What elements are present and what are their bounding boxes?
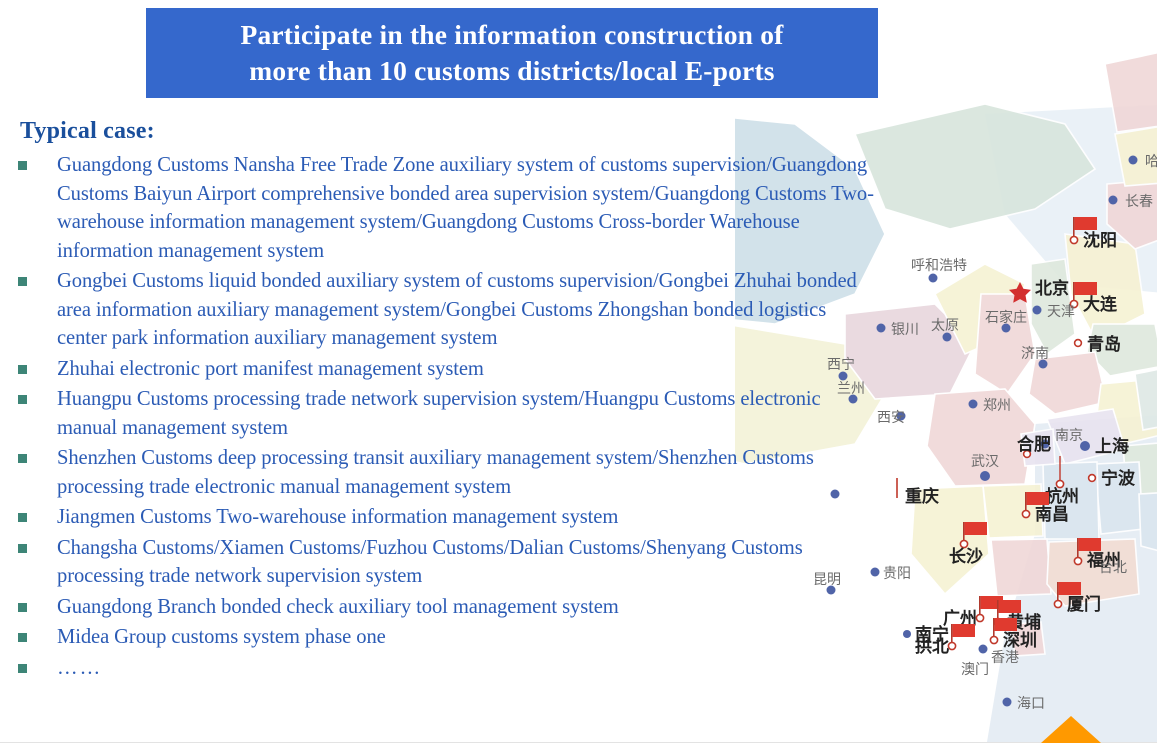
svg-text:宁波: 宁波 — [1101, 468, 1136, 489]
bullet-square-icon — [18, 633, 27, 642]
svg-text:香港: 香港 — [991, 650, 1019, 666]
bullet-square-icon — [18, 664, 27, 673]
list-item: Guangdong Branch bonded check auxiliary … — [0, 593, 880, 622]
bullet-square-icon — [18, 395, 27, 404]
svg-text:厦门: 厦门 — [1067, 594, 1101, 615]
svg-text:澳门: 澳门 — [961, 662, 989, 678]
svg-text:台北: 台北 — [1099, 560, 1127, 576]
svg-text:大连: 大连 — [1083, 294, 1118, 315]
svg-text:重庆: 重庆 — [905, 486, 939, 507]
list-item: Gongbei Customs liquid bonded auxiliary … — [0, 267, 880, 353]
svg-text:石家庄: 石家庄 — [985, 309, 1027, 326]
list-item-text: Guangdong Branch bonded check auxiliary … — [57, 596, 619, 618]
list-item-text: Changsha Customs/Xiamen Customs/Fuzhou C… — [57, 537, 803, 588]
case-list: Guangdong Customs Nansha Free Trade Zone… — [0, 151, 880, 682]
list-item: Shenzhen Customs deep processing transit… — [0, 444, 880, 501]
svg-text:深圳: 深圳 — [1003, 630, 1037, 651]
list-item-text: Midea Group customs system phase one — [57, 626, 386, 648]
svg-text:长春: 长春 — [1125, 194, 1153, 210]
svg-text:黄埔: 黄埔 — [1007, 612, 1041, 633]
svg-text:天津: 天津 — [1047, 304, 1075, 320]
list-item-text: Zhuhai electronic port manifest manageme… — [57, 358, 484, 380]
svg-text:贵阳: 贵阳 — [883, 566, 911, 582]
list-item: Midea Group customs system phase one — [0, 623, 880, 652]
bullet-square-icon — [18, 513, 27, 522]
svg-text:济南: 济南 — [1021, 346, 1049, 362]
svg-text:青岛: 青岛 — [1087, 334, 1121, 355]
slide-title-banner: Participate in the information construct… — [146, 8, 878, 98]
svg-text:南京: 南京 — [1055, 428, 1083, 444]
svg-text:福州: 福州 — [1086, 550, 1121, 571]
bullet-square-icon — [18, 161, 27, 170]
bullet-square-icon — [18, 603, 27, 612]
svg-text:上海: 上海 — [1095, 436, 1129, 457]
bullet-square-icon — [18, 365, 27, 374]
svg-text:南昌: 南昌 — [1035, 504, 1069, 525]
slide-title-line2: more than 10 customs districts/local E-p… — [249, 55, 774, 86]
svg-text:合肥: 合肥 — [1017, 434, 1051, 455]
list-item-text: Huangpu Customs processing trade network… — [57, 388, 821, 439]
svg-text:南宁: 南宁 — [915, 624, 949, 645]
svg-text:武汉: 武汉 — [971, 454, 999, 470]
list-item: Huangpu Customs processing trade network… — [0, 385, 880, 442]
slide-title: Participate in the information construct… — [226, 17, 797, 90]
slide-title-line1: Participate in the information construct… — [240, 19, 783, 50]
svg-text:拱北: 拱北 — [915, 636, 949, 657]
svg-text:太原: 太原 — [931, 318, 959, 334]
list-item: Zhuhai electronic port manifest manageme… — [0, 355, 880, 384]
bullet-square-icon — [18, 277, 27, 286]
svg-text:海口: 海口 — [1017, 696, 1045, 712]
slide-canvas: 哈尔滨 长春 沈阳 呼和浩特 北京 大连 天津 — [0, 0, 1157, 743]
list-item-text: Gongbei Customs liquid bonded auxiliary … — [57, 270, 857, 349]
svg-text:沈阳: 沈阳 — [1083, 230, 1117, 251]
svg-text:北京: 北京 — [1035, 278, 1069, 299]
svg-text:广州: 广州 — [943, 608, 977, 629]
list-item: Jiangmen Customs Two-warehouse informati… — [0, 503, 880, 532]
list-item-text: …… — [57, 657, 102, 679]
svg-text:长沙: 长沙 — [949, 546, 983, 567]
svg-text:呼和浩特: 呼和浩特 — [911, 258, 967, 274]
list-item: …… — [0, 654, 880, 683]
typical-case-heading: Typical case: — [20, 118, 880, 145]
orange-triangle-decoration — [1041, 716, 1101, 743]
svg-text:银川: 银川 — [891, 322, 919, 338]
bullet-square-icon — [18, 454, 27, 463]
list-item: Changsha Customs/Xiamen Customs/Fuzhou C… — [0, 534, 880, 591]
bullet-square-icon — [18, 544, 27, 553]
list-item-text: Shenzhen Customs deep processing transit… — [57, 447, 814, 498]
content-area: Typical case: Guangdong Customs Nansha F… — [0, 118, 880, 684]
svg-text:西安: 西安 — [877, 410, 905, 426]
list-item-text: Jiangmen Customs Two-warehouse informati… — [57, 506, 618, 528]
svg-text:杭州: 杭州 — [1045, 486, 1079, 507]
svg-text:郑州: 郑州 — [983, 398, 1011, 414]
svg-text:哈尔滨: 哈尔滨 — [1145, 154, 1157, 170]
list-item-text: Guangdong Customs Nansha Free Trade Zone… — [57, 154, 874, 262]
list-item: Guangdong Customs Nansha Free Trade Zone… — [0, 151, 880, 265]
